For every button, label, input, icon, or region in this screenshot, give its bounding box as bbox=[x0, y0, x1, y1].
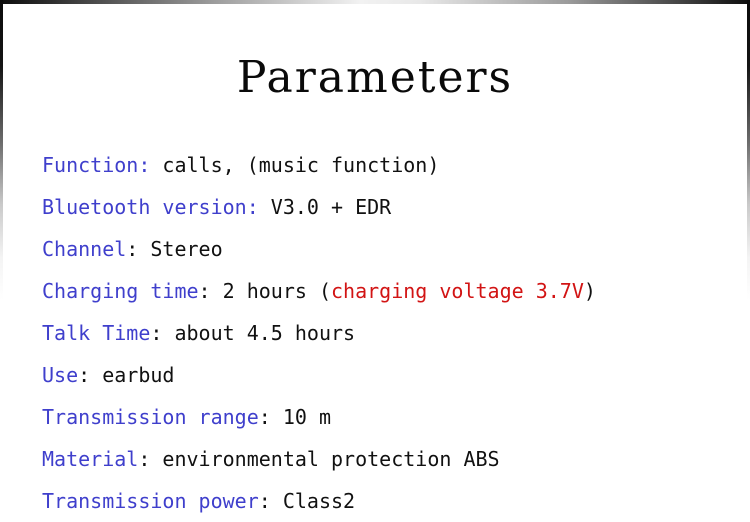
spec-label: Transmission power bbox=[42, 489, 259, 513]
spec-separator: : bbox=[138, 447, 150, 471]
spec-value: V3.0 + EDR bbox=[271, 195, 391, 219]
spec-note-highlight: charging voltage 3.7V bbox=[331, 279, 584, 303]
spec-value: 10 m bbox=[283, 405, 331, 429]
spec-gap bbox=[271, 489, 283, 513]
spec-separator: : bbox=[247, 195, 259, 219]
spec-value: Class2 bbox=[283, 489, 355, 513]
spec-row: Charging time: 2 hours (charging voltage… bbox=[42, 270, 742, 312]
spec-row: Talk Time: about 4.5 hours bbox=[42, 312, 742, 354]
spec-label: Talk Time bbox=[42, 321, 150, 345]
spec-separator: : bbox=[126, 237, 138, 261]
spec-value: 2 hours bbox=[223, 279, 319, 303]
spec-separator: : bbox=[259, 405, 271, 429]
spec-value: earbud bbox=[102, 363, 174, 387]
spec-gap bbox=[271, 405, 283, 429]
spec-row: Use: earbud bbox=[42, 354, 742, 396]
spec-label: Channel bbox=[42, 237, 126, 261]
spec-row: Bluetooth version: V3.0 + EDR bbox=[42, 186, 742, 228]
spec-separator: : bbox=[199, 279, 211, 303]
spec-row: Function: calls, (music function) bbox=[42, 144, 742, 186]
spec-separator: : bbox=[259, 489, 271, 513]
spec-gap bbox=[90, 363, 102, 387]
parameters-spec-sheet: Parameters Function: calls, (music funct… bbox=[0, 0, 750, 514]
spec-row: Transmission power: Class2 bbox=[42, 480, 742, 522]
spec-gap bbox=[150, 153, 162, 177]
spec-gap bbox=[162, 321, 174, 345]
spec-label: Use bbox=[42, 363, 78, 387]
spec-value: environmental protection ABS bbox=[162, 447, 499, 471]
spec-label: Function bbox=[42, 153, 138, 177]
spec-gap bbox=[150, 447, 162, 471]
spec-row: Material: environmental protection ABS bbox=[42, 438, 742, 480]
spec-value: Stereo bbox=[150, 237, 222, 261]
spec-label: Transmission range bbox=[42, 405, 259, 429]
spec-gap bbox=[211, 279, 223, 303]
spec-value: about 4.5 hours bbox=[174, 321, 355, 345]
spec-note-open-paren: ( bbox=[319, 279, 331, 303]
spec-gap bbox=[259, 195, 271, 219]
spec-value: calls, (music function) bbox=[162, 153, 439, 177]
page-title: Parameters bbox=[0, 54, 750, 102]
spec-separator: : bbox=[138, 153, 150, 177]
spec-label: Bluetooth version bbox=[42, 195, 247, 219]
spec-note-group: (charging voltage 3.7V) bbox=[319, 279, 596, 303]
spec-label: Charging time bbox=[42, 279, 199, 303]
spec-row: Transmission range: 10 m bbox=[42, 396, 742, 438]
spec-separator: : bbox=[150, 321, 162, 345]
spec-note-close-paren: ) bbox=[584, 279, 596, 303]
top-edge-band bbox=[0, 0, 750, 4]
left-edge-rule bbox=[0, 0, 3, 300]
spec-gap bbox=[138, 237, 150, 261]
spec-label: Material bbox=[42, 447, 138, 471]
spec-row: Channel: Stereo bbox=[42, 228, 742, 270]
spec-list: Function: calls, (music function)Bluetoo… bbox=[42, 144, 742, 522]
spec-separator: : bbox=[78, 363, 90, 387]
